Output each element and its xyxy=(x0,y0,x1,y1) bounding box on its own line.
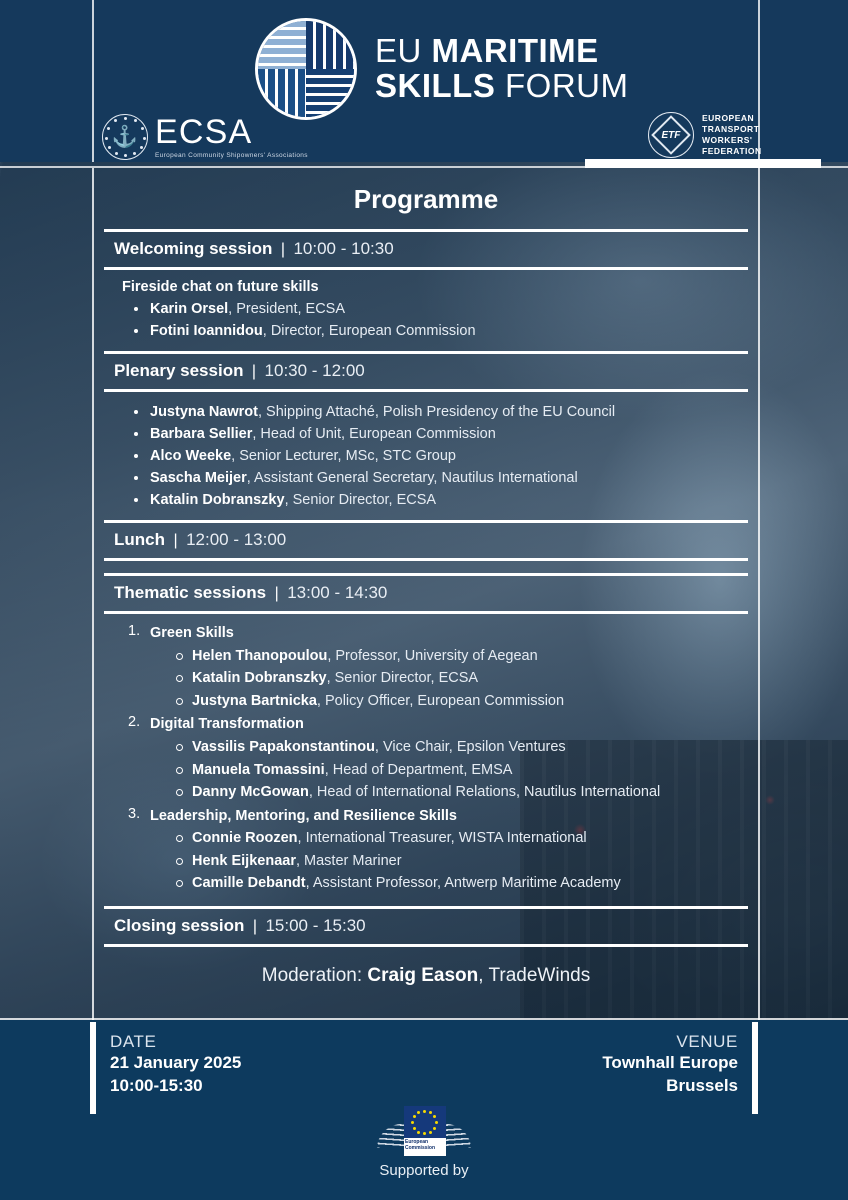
speaker-role: , International Treasurer, WISTA Interna… xyxy=(298,830,587,846)
speaker-role: , Assistant Professor, Antwerp Maritime … xyxy=(306,875,621,891)
header-left-vertical-rule xyxy=(92,0,94,162)
session-separator: | xyxy=(271,585,283,602)
session-time: 12:00 - 13:00 xyxy=(186,530,286,549)
speaker-name: Katalin Dobranszky xyxy=(192,670,327,686)
session-separator: | xyxy=(169,532,181,549)
list-item: Digital Transformation Vassilis Papakons… xyxy=(128,714,748,803)
moderation-prefix: Moderation: xyxy=(262,965,368,986)
etf-line2: TRANSPORT xyxy=(702,124,762,135)
speaker-name: Sascha Meijer xyxy=(150,470,247,486)
list-item: Justyna Bartnicka, Policy Officer, Europ… xyxy=(176,690,748,712)
list-item: Katalin Dobranszky, Senior Director, ECS… xyxy=(134,489,748,511)
header-accent-bar xyxy=(585,159,821,168)
date-value: 21 January 2025 xyxy=(110,1052,241,1075)
eu-maritime-skills-forum-icon xyxy=(255,18,357,120)
speaker-name: Justyna Bartnicka xyxy=(192,693,317,709)
forum-logo-lockup: EU MARITIME SKILLS FORUM xyxy=(255,18,629,120)
session-name: Closing session xyxy=(114,916,244,935)
speaker-name: Karin Orsel xyxy=(150,301,228,317)
theme-list: Green Skills Helen Thanopoulou, Professo… xyxy=(104,623,748,894)
date-label: DATE xyxy=(110,1032,241,1052)
speaker-role: , Master Mariner xyxy=(296,853,402,869)
moderator-affiliation: , TradeWinds xyxy=(478,965,590,986)
date-block: DATE 21 January 2025 10:00-15:30 xyxy=(110,1032,241,1097)
moderator-name: Craig Eason xyxy=(367,965,478,986)
ec-flag-box: European Commission xyxy=(404,1106,446,1156)
etf-line3: WORKERS' xyxy=(702,135,762,146)
speaker-role: , Policy Officer, European Commission xyxy=(317,693,564,709)
poster-header: EU MARITIME SKILLS FORUM ⚓ ECSA European… xyxy=(0,0,848,162)
session-header-plenary: Plenary session | 10:30 - 12:00 xyxy=(104,354,748,389)
etf-name: EUROPEAN TRANSPORT WORKERS' FEDERATION xyxy=(702,113,762,158)
venue-name: Townhall Europe xyxy=(602,1052,738,1075)
list-item: Sascha Meijer, Assistant General Secreta… xyxy=(134,467,748,489)
venue-label: VENUE xyxy=(602,1032,738,1052)
session-header-thematic: Thematic sessions | 13:00 - 14:30 xyxy=(104,576,748,611)
etf-abbr: ETF xyxy=(662,129,681,140)
speaker-list: Vassilis Papakonstantinou, Vice Chair, E… xyxy=(150,736,748,803)
footer-top-rule xyxy=(0,1018,848,1020)
session-separator: | xyxy=(249,918,261,935)
speaker-name: Justyna Nawrot xyxy=(150,404,258,420)
session-time: 10:30 - 12:00 xyxy=(265,361,365,380)
session-header-closing: Closing session | 15:00 - 15:30 xyxy=(104,909,748,944)
programme-content: Programme Welcoming session | 10:00 - 10… xyxy=(104,172,748,1003)
etf-line4: FEDERATION xyxy=(702,146,762,157)
list-item: Green Skills Helen Thanopoulou, Professo… xyxy=(128,623,748,712)
wordmark-maritime: MARITIME xyxy=(432,32,599,69)
session-name: Thematic sessions xyxy=(114,583,266,602)
venue-block: VENUE Townhall Europe Brussels xyxy=(602,1032,738,1097)
moderation-line: Moderation: Craig Eason, TradeWinds xyxy=(104,947,748,1003)
speaker-list: Justyna Nawrot, Shipping Attaché, Polish… xyxy=(104,401,748,511)
speaker-name: Camille Debandt xyxy=(192,875,306,891)
list-item: Barbara Sellier, Head of Unit, European … xyxy=(134,423,748,445)
header-right-vertical-rule xyxy=(758,0,760,162)
speaker-role: , Assistant General Secretary, Nautilus … xyxy=(247,470,578,486)
session-separator: | xyxy=(277,241,289,258)
wordmark-eu: EU xyxy=(375,32,432,69)
list-item: Vassilis Papakonstantinou, Vice Chair, E… xyxy=(176,736,748,758)
session-time: 13:00 - 14:30 xyxy=(287,583,387,602)
theme-title: Green Skills xyxy=(150,623,748,645)
speaker-role: , Shipping Attaché, Polish Presidency of… xyxy=(258,404,615,420)
european-commission-logo: European Commission xyxy=(360,1104,488,1158)
speaker-role: , Senior Director, ECSA xyxy=(327,670,479,686)
anchor-stars-icon: ⚓ xyxy=(102,114,148,160)
wordmark-forum: FORUM xyxy=(495,67,628,104)
list-item: Alco Weeke, Senior Lecturer, MSc, STC Gr… xyxy=(134,445,748,467)
list-item: Connie Roozen, International Treasurer, … xyxy=(176,827,748,849)
list-item: Karin Orsel, President, ECSA xyxy=(134,298,748,320)
speaker-role: , President, ECSA xyxy=(228,301,345,317)
etf-emblem-icon: ETF xyxy=(648,112,694,158)
ecsa-name: ECSA xyxy=(155,115,308,149)
list-item: Camille Debandt, Assistant Professor, An… xyxy=(176,872,748,894)
list-item: Helen Thanopoulou, Professor, University… xyxy=(176,645,748,667)
venue-city: Brussels xyxy=(602,1075,738,1098)
speaker-role: , Head of Department, EMSA xyxy=(325,762,513,778)
speaker-name: Fotini Ioannidou xyxy=(150,323,263,339)
session-name: Plenary session xyxy=(114,361,243,380)
ecsa-logo: ⚓ ECSA European Community Shipowners' As… xyxy=(102,114,308,160)
speaker-name: Manuela Tomassini xyxy=(192,762,325,778)
list-item: Leadership, Mentoring, and Resilience Sk… xyxy=(128,806,748,895)
speaker-role: , Head of International Relations, Nauti… xyxy=(309,784,660,800)
list-item: Katalin Dobranszky, Senior Director, ECS… xyxy=(176,667,748,689)
speaker-name: Helen Thanopoulou xyxy=(192,648,327,664)
footer-right-accent-bar xyxy=(752,1022,758,1114)
list-item: Manuela Tomassini, Head of Department, E… xyxy=(176,759,748,781)
time-value: 10:00-15:30 xyxy=(110,1075,241,1098)
body-left-vertical-rule xyxy=(92,168,94,1020)
speaker-list: Helen Thanopoulou, Professor, University… xyxy=(150,645,748,712)
wordmark-skills: SKILLS xyxy=(375,67,495,104)
speaker-role: , Senior Lecturer, MSc, STC Group xyxy=(231,448,456,464)
speaker-role: , Professor, University of Aegean xyxy=(327,648,537,664)
list-item: Danny McGowan, Head of International Rel… xyxy=(176,781,748,803)
event-programme-poster: EU MARITIME SKILLS FORUM ⚓ ECSA European… xyxy=(0,0,848,1200)
speaker-list: Connie Roozen, International Treasurer, … xyxy=(150,827,748,894)
session-name: Lunch xyxy=(114,530,165,549)
etf-line1: EUROPEAN xyxy=(702,113,762,124)
list-item: Justyna Nawrot, Shipping Attaché, Polish… xyxy=(134,401,748,423)
speaker-name: Barbara Sellier xyxy=(150,426,252,442)
ec-caption: European Commission xyxy=(405,1139,435,1152)
eu-flag-icon xyxy=(404,1106,446,1138)
footer-left-accent-bar xyxy=(90,1022,96,1114)
speaker-role: , Senior Director, ECSA xyxy=(285,492,437,508)
session-name: Welcoming session xyxy=(114,239,272,258)
speaker-name: Katalin Dobranszky xyxy=(150,492,285,508)
body-right-vertical-rule xyxy=(758,168,760,1020)
etf-logo: ETF EUROPEAN TRANSPORT WORKERS' FEDERATI… xyxy=(648,112,762,158)
speaker-name: Alco Weeke xyxy=(150,448,231,464)
session-body-welcoming: Fireside chat on future skills Karin Ors… xyxy=(104,270,748,351)
speaker-role: , Head of Unit, European Commission xyxy=(252,426,495,442)
ec-wave-left-icon xyxy=(360,1104,404,1148)
theme-title: Digital Transformation xyxy=(150,714,748,736)
speaker-name: Connie Roozen xyxy=(192,830,298,846)
theme-title: Leadership, Mentoring, and Resilience Sk… xyxy=(150,806,748,828)
session-time: 15:00 - 15:30 xyxy=(265,916,365,935)
forum-wordmark: EU MARITIME SKILLS FORUM xyxy=(375,34,629,104)
session-separator: | xyxy=(248,363,260,380)
page-title: Programme xyxy=(104,184,748,215)
session-body-plenary: Justyna Nawrot, Shipping Attaché, Polish… xyxy=(104,392,748,520)
session-time: 10:00 - 10:30 xyxy=(293,239,393,258)
session-header-lunch: Lunch | 12:00 - 13:00 xyxy=(104,523,748,558)
thematic-body: Green Skills Helen Thanopoulou, Professo… xyxy=(104,614,748,905)
session-header-welcoming: Welcoming session | 10:00 - 10:30 xyxy=(104,232,748,267)
speaker-role: , Vice Chair, Epsilon Ventures xyxy=(375,739,566,755)
ecsa-tagline: European Community Shipowners' Associati… xyxy=(155,152,308,159)
speaker-list: Karin Orsel, President, ECSA Fotini Ioan… xyxy=(104,298,748,342)
speaker-role: , Director, European Commission xyxy=(263,323,476,339)
supported-by-label: Supported by xyxy=(0,1162,848,1179)
ec-wave-right-icon xyxy=(444,1104,488,1148)
speaker-name: Vassilis Papakonstantinou xyxy=(192,739,375,755)
ec-caption-line2: Commission xyxy=(405,1145,435,1151)
speaker-name: Henk Eijkenaar xyxy=(192,853,296,869)
speaker-name: Danny McGowan xyxy=(192,784,309,800)
list-item: Fotini Ioannidou, Director, European Com… xyxy=(134,320,748,342)
list-item: Henk Eijkenaar, Master Mariner xyxy=(176,850,748,872)
session-subheading: Fireside chat on future skills xyxy=(122,279,748,295)
